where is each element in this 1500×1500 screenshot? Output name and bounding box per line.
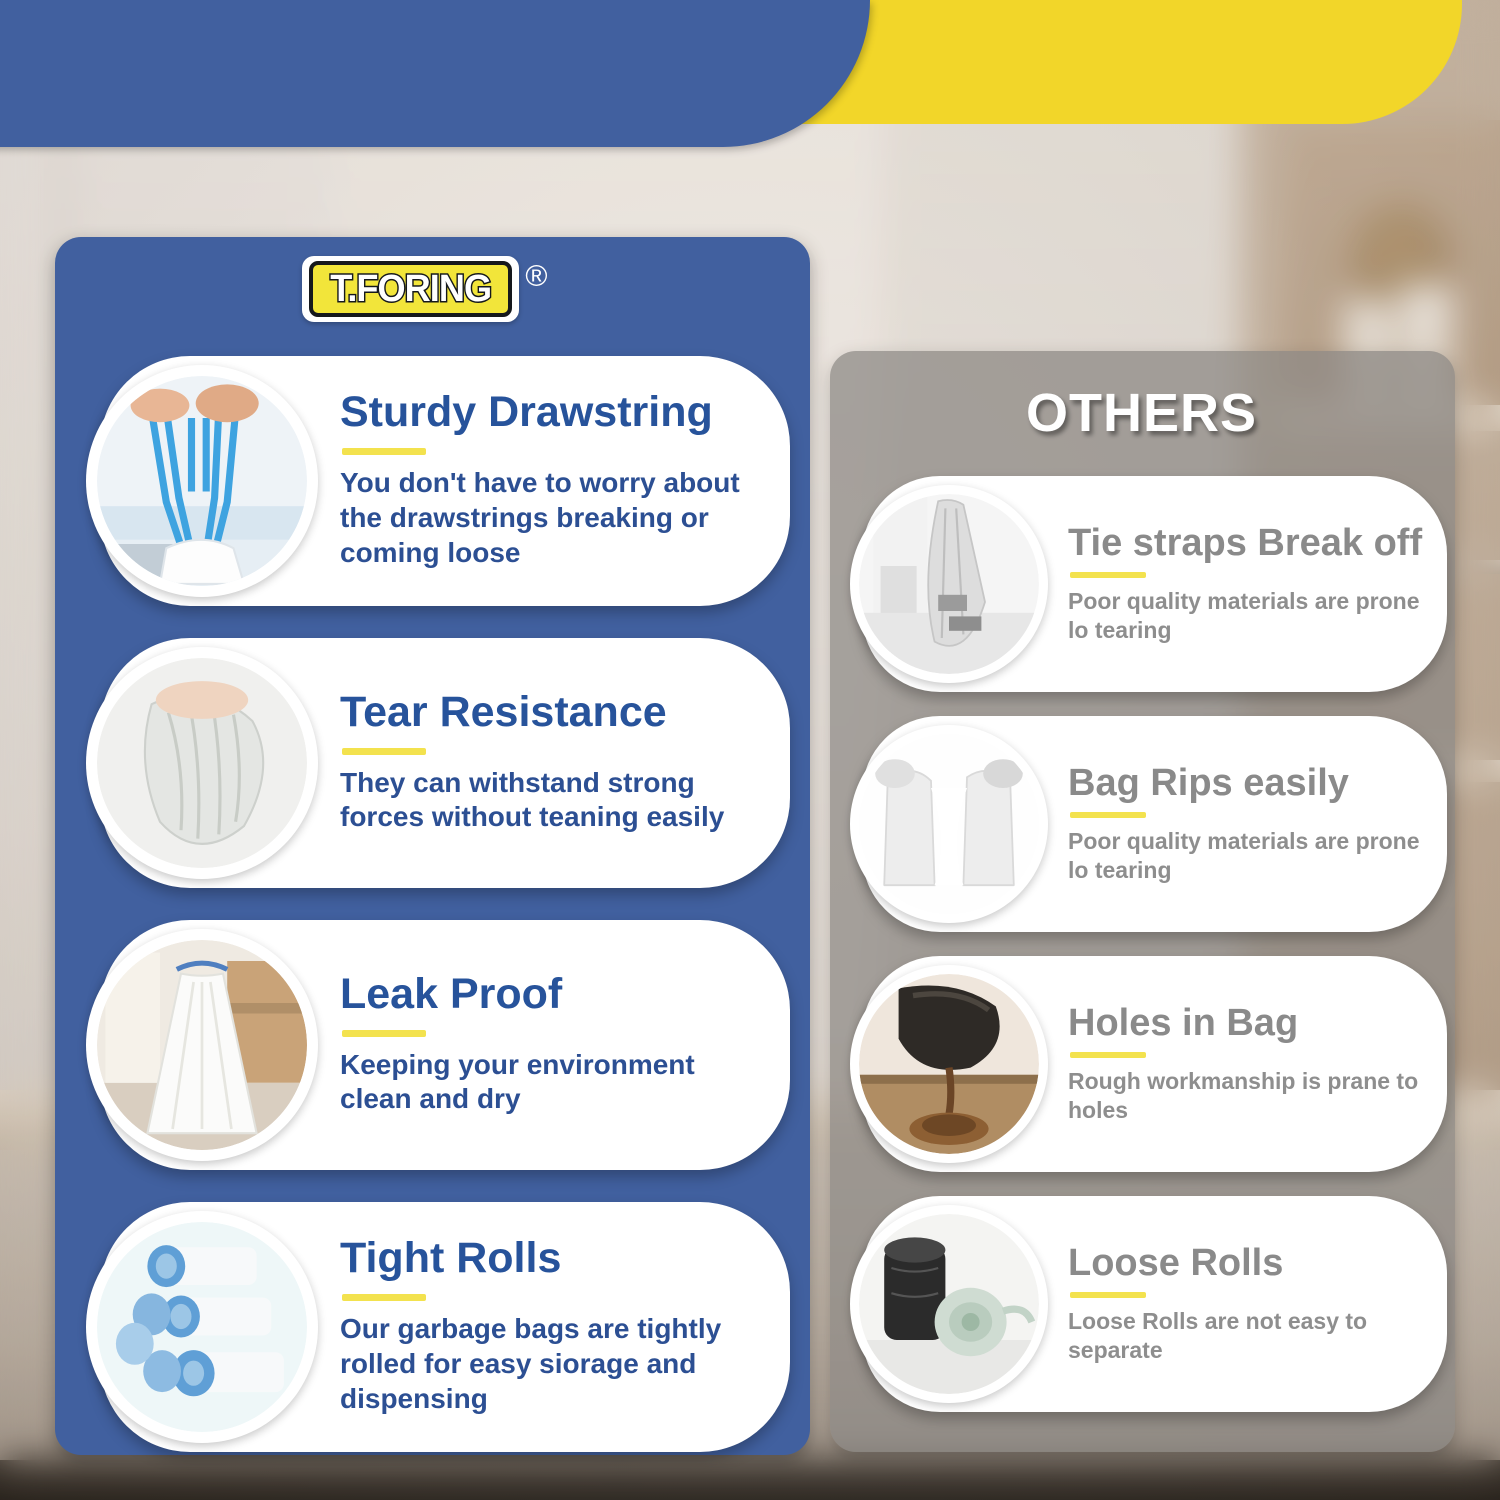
tight-rolls-photo	[86, 1211, 318, 1443]
card-body: They can withstand strong forces without…	[340, 766, 772, 835]
card-text: Sturdy Drawstring You don't have to worr…	[318, 391, 790, 570]
accent-rule	[1070, 1292, 1146, 1298]
tie-straps-break-off-photo	[850, 485, 1048, 683]
header-blue-banner	[0, 0, 870, 147]
other-card-holes-in-bag[interactable]: Holes in Bag Rough workmanship is prane …	[862, 956, 1447, 1172]
feature-card-leak-proof[interactable]: Leak Proof Keeping your environment clea…	[100, 920, 790, 1170]
feature-card-tight-rolls[interactable]: Tight Rolls Our garbage bags are tightly…	[100, 1202, 790, 1452]
card-text: Tight Rolls Our garbage bags are tightly…	[318, 1237, 790, 1416]
card-body: Poor quality materials are prone lo tear…	[1068, 827, 1429, 884]
card-title: Tight Rolls	[340, 1237, 772, 1281]
accent-rule	[1070, 572, 1146, 578]
accent-rule	[342, 1294, 426, 1301]
sturdy-drawstring-photo	[86, 365, 318, 597]
accent-rule	[1070, 1052, 1146, 1058]
card-body: Loose Rolls are not easy to separate	[1068, 1307, 1429, 1364]
accent-rule	[1070, 812, 1146, 818]
card-title: Sturdy Drawstring	[340, 391, 772, 435]
accent-rule	[342, 448, 426, 455]
card-title: Leak Proof	[340, 973, 772, 1017]
card-text: Tear Resistance They can withstand stron…	[318, 691, 790, 835]
card-title: Bag Rips easily	[1068, 764, 1429, 803]
card-text: Leak Proof Keeping your environment clea…	[318, 973, 790, 1117]
accent-rule	[342, 1030, 426, 1037]
leak-proof-photo	[86, 929, 318, 1161]
card-title: Tie straps Break off	[1068, 524, 1429, 563]
card-body: You don't have to worry about the drawst…	[340, 466, 772, 570]
card-text: Bag Rips easily Poor quality materials a…	[1048, 764, 1447, 885]
card-title: Tear Resistance	[340, 691, 772, 735]
bag-rips-easily-photo	[850, 725, 1048, 923]
others-heading: OTHERS	[1026, 382, 1257, 444]
holes-in-bag-photo	[850, 965, 1048, 1163]
card-body: Rough workmanship is prane to holes	[1068, 1067, 1429, 1124]
card-text: Tie straps Break off Poor quality materi…	[1048, 524, 1447, 645]
logo-text: T.FORING	[330, 270, 491, 308]
card-text: Holes in Bag Rough workmanship is prane …	[1048, 1004, 1447, 1125]
loose-rolls-photo	[850, 1205, 1048, 1403]
card-title: Holes in Bag	[1068, 1004, 1429, 1043]
card-body: Keeping your environment clean and dry	[340, 1048, 772, 1117]
other-card-tie-straps-break-off[interactable]: Tie straps Break off Poor quality materi…	[862, 476, 1447, 692]
feature-card-sturdy-drawstring[interactable]: Sturdy Drawstring You don't have to worr…	[100, 356, 790, 606]
card-body: Poor quality materials are prone lo tear…	[1068, 587, 1429, 644]
card-title: Loose Rolls	[1068, 1244, 1429, 1283]
logo-plate: T.FORING	[302, 256, 519, 322]
logo-inner: T.FORING	[309, 261, 512, 317]
other-card-loose-rolls[interactable]: Loose Rolls Loose Rolls are not easy to …	[862, 1196, 1447, 1412]
card-text: Loose Rolls Loose Rolls are not easy to …	[1048, 1244, 1447, 1365]
accent-rule	[342, 748, 426, 755]
other-card-bag-rips-easily[interactable]: Bag Rips easily Poor quality materials a…	[862, 716, 1447, 932]
brand-logo: T.FORING ®	[302, 256, 547, 322]
feature-card-tear-resistance[interactable]: Tear Resistance They can withstand stron…	[100, 638, 790, 888]
card-body: Our garbage bags are tightly rolled for …	[340, 1312, 772, 1416]
registered-trademark-icon: ®	[525, 260, 547, 294]
tear-resistance-photo	[86, 647, 318, 879]
